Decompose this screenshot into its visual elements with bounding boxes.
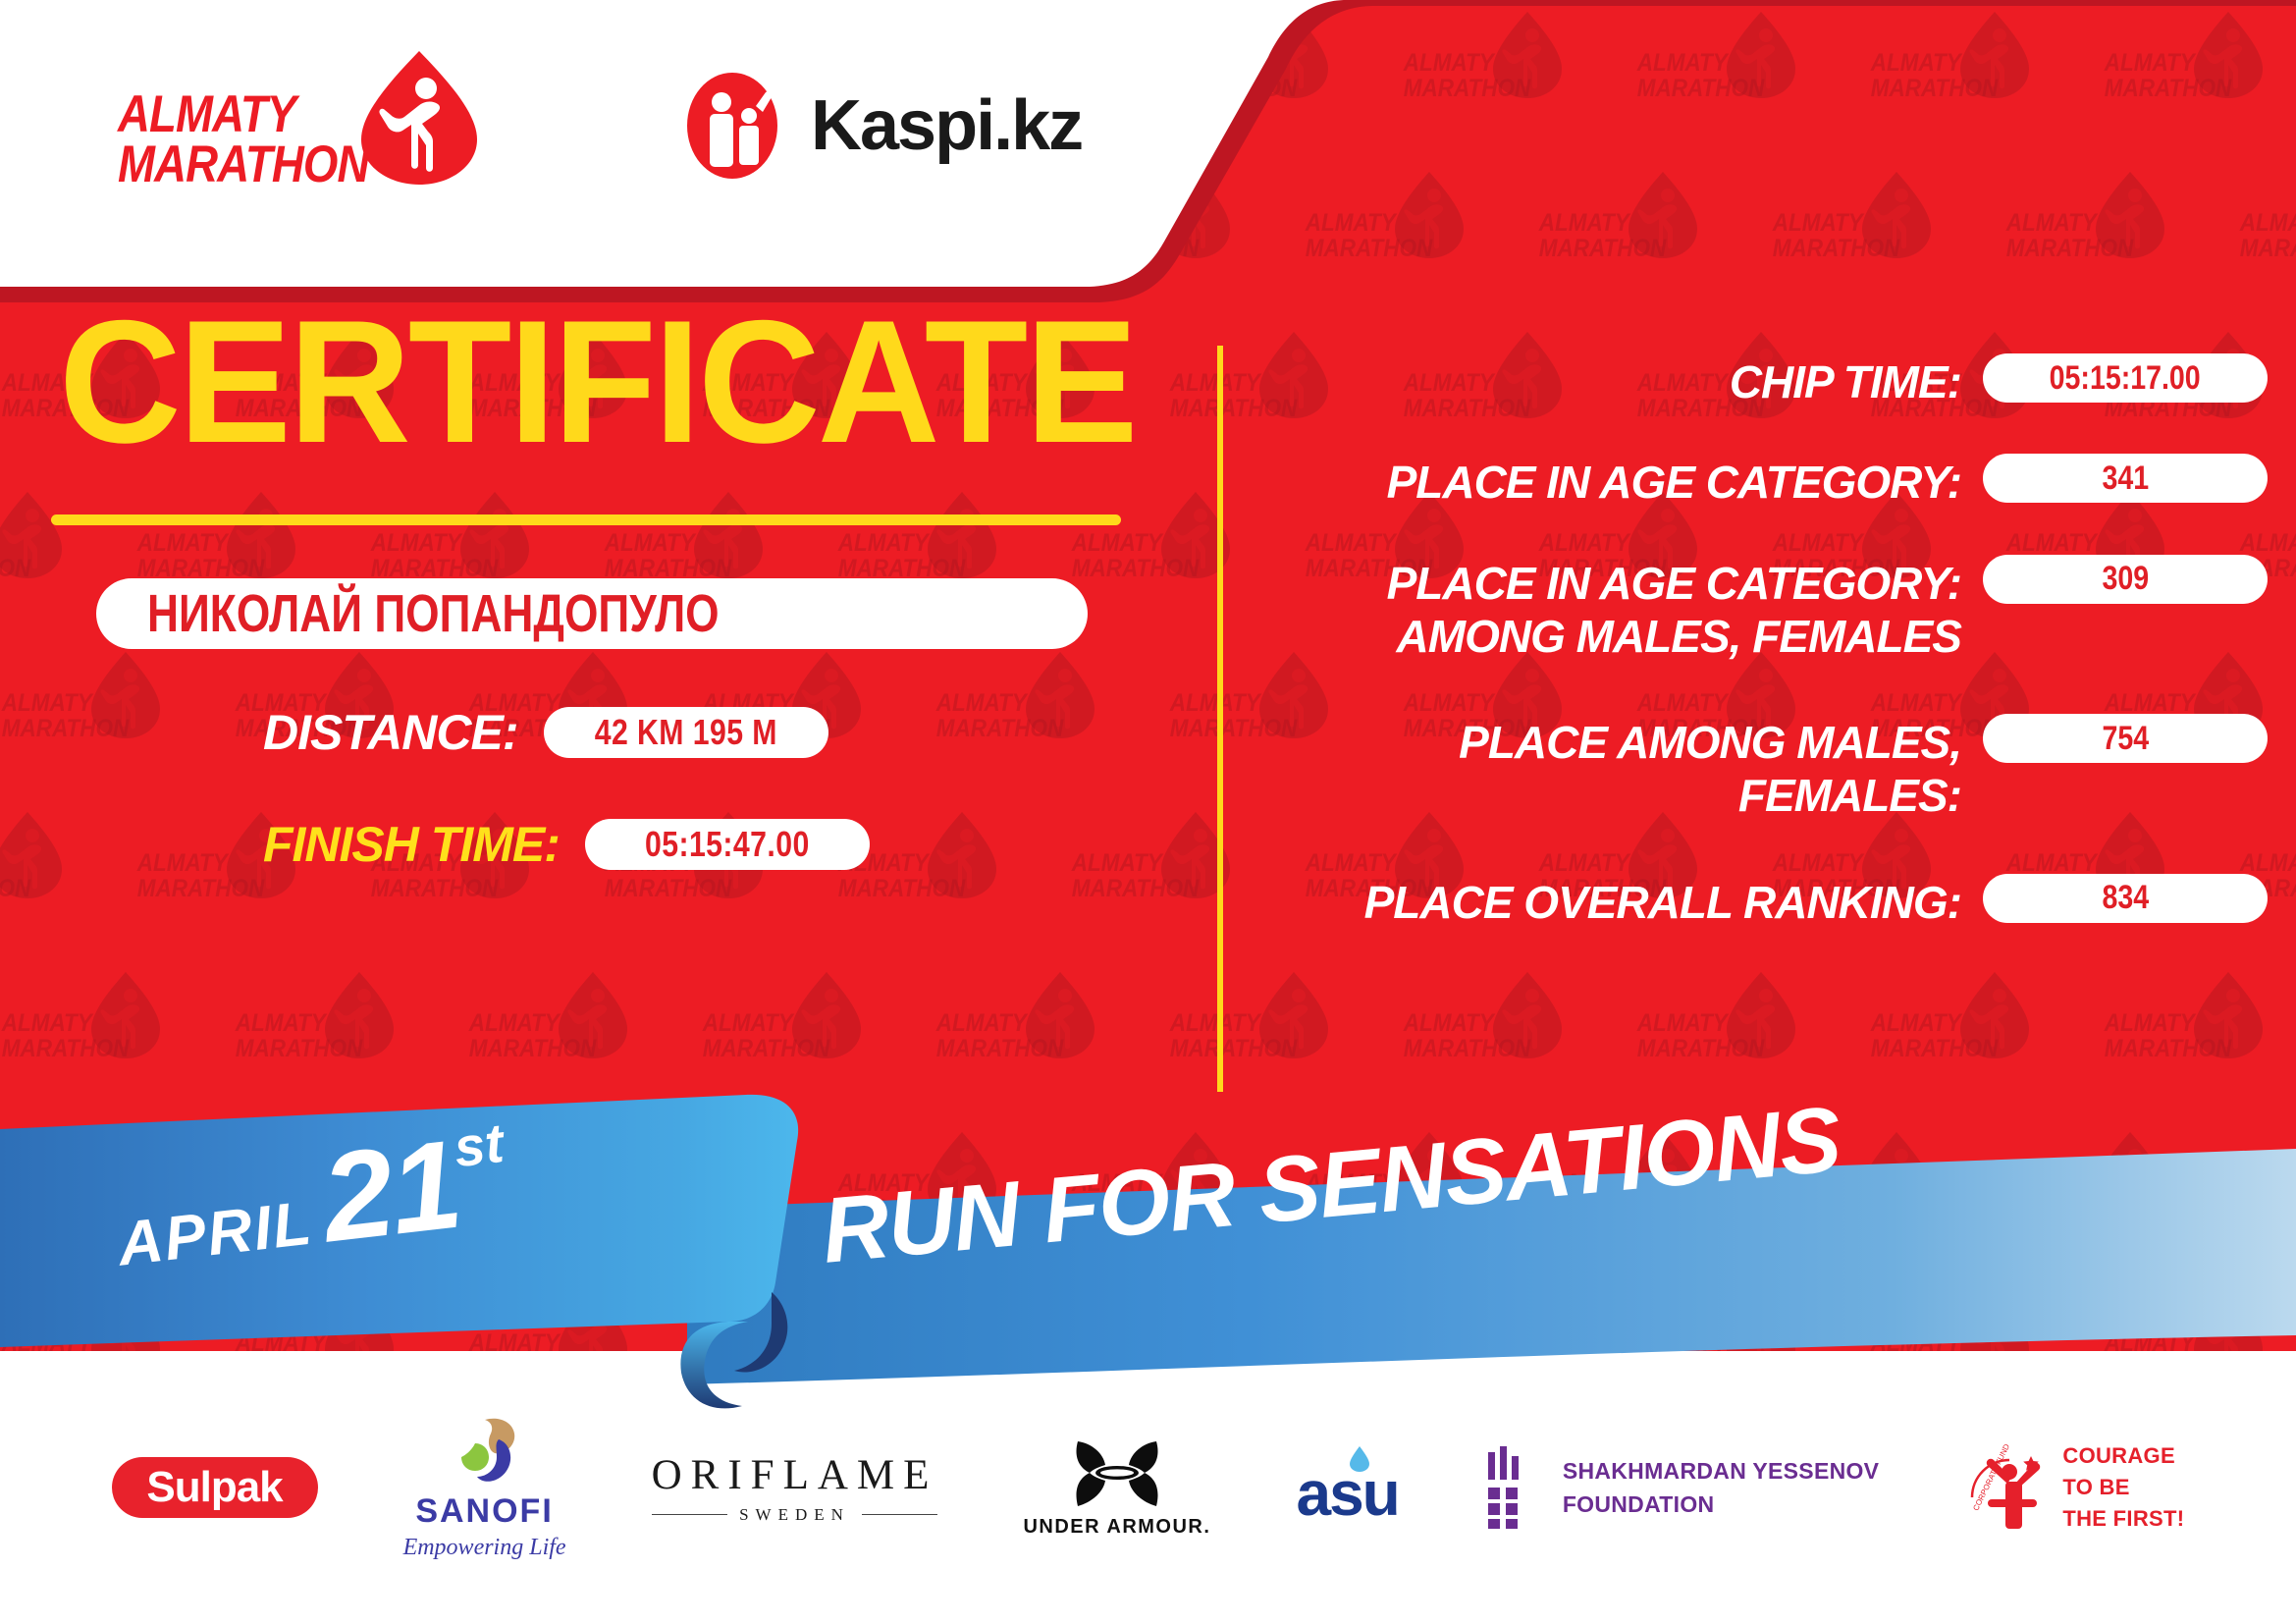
yessenov-wordmark: SHAKHMARDAN YESSENOV FOUNDATION (1563, 1454, 1880, 1522)
sanofi-tagline: Empowering Life (403, 1535, 566, 1561)
svg-text:MARATHON: MARATHON (703, 1035, 830, 1062)
runner-name-value: НИКОЛАЙ ПОПАНДОПУЛО (147, 583, 720, 644)
svg-text:MARATHON: MARATHON (605, 875, 732, 902)
rule-left (652, 1514, 727, 1515)
courage-line-1: COURAGE (2062, 1440, 2184, 1472)
watermark-tile: ALMATYMARATHON (0, 960, 172, 1108)
watermark-tile: ALMATYMARATHON (934, 960, 1106, 1108)
oriflame-tagline: SWEDEN (739, 1505, 850, 1525)
place-age-category-label: PLACE IN AGE CATEGORY: (1276, 454, 1961, 509)
kaspi-mark-icon (677, 71, 787, 181)
place-age-category-gender-value: 309 (2102, 560, 2149, 598)
label-line-1: PLACE IN AGE CATEGORY: (1276, 557, 1961, 610)
asu-wordmark: asu (1296, 1457, 1398, 1530)
svg-text:MARATHON: MARATHON (137, 875, 265, 902)
svg-text:MARATHON: MARATHON (1170, 1035, 1298, 1062)
place-age-category-gender-row: PLACE IN AGE CATEGORY: AMONG MALES, FEMA… (1276, 555, 2268, 664)
yessenov-mark-icon (1484, 1446, 1541, 1529)
chip-time-value: 05:15:17.00 (2050, 359, 2201, 398)
label-line-2: AMONG MALES, FEMALES (1276, 610, 1961, 663)
place-among-gender-row: PLACE AMONG MALES, FEMALES: 754 (1276, 714, 2268, 823)
finish-time-value: 05:15:47.00 (645, 824, 810, 865)
chip-time-pill: 05:15:17.00 (1983, 353, 2268, 403)
distance-row: DISTANCE: 42 KM 195 M (0, 704, 1207, 761)
svg-text:MARATHON: MARATHON (936, 1035, 1064, 1062)
runner-name-field: НИКОЛАЙ ПОПАНДОПУЛО (96, 578, 1088, 649)
place-age-category-row: PLACE IN AGE CATEGORY: 341 (1276, 454, 2268, 509)
event-month: APRIL (114, 1188, 316, 1280)
place-overall-value: 834 (2102, 879, 2149, 917)
svg-text:MARATHON: MARATHON (371, 875, 499, 902)
watermark-tile: ALMATYMARATHON (467, 960, 639, 1108)
under-armour-wordmark: UNDER ARMOUR. (1023, 1516, 1210, 1539)
chip-time-label: CHIP TIME: (1276, 353, 1961, 408)
title-divider (51, 514, 1121, 525)
watermark-tile: ALMATYMARATHON (701, 960, 873, 1108)
sponsor-yessenov-foundation: SHAKHMARDAN YESSENOV FOUNDATION (1484, 1446, 1880, 1529)
svg-text:MARATHON: MARATHON (1072, 875, 1200, 902)
label-line-1: PLACE AMONG MALES, (1276, 716, 1961, 769)
courage-wordmark: COURAGE TO BE THE FIRST! (2062, 1440, 2184, 1535)
place-overall-row: PLACE OVERALL RANKING: 834 (1276, 874, 2268, 929)
results-column: CHIP TIME: 05:15:17.00 PLACE IN AGE CATE… (1276, 353, 2268, 974)
sanofi-wordmark: SANOFI (415, 1492, 553, 1531)
sponsor-logos: Sulpak SANOFI Empowering Life ORIFLAME S… (0, 1351, 2296, 1624)
distance-pill: 42 KM 195 M (544, 707, 828, 758)
place-among-gender-pill: 754 (1983, 714, 2268, 763)
watermark-tile: ALMATYMARATHON (1869, 960, 2041, 1108)
svg-text:MARATHON: MARATHON (0, 875, 31, 902)
place-age-category-gender-label: PLACE IN AGE CATEGORY: AMONG MALES, FEMA… (1276, 555, 1961, 664)
svg-text:MARATHON: MARATHON (1637, 1035, 1765, 1062)
yessenov-tagline: FOUNDATION (1563, 1488, 1880, 1522)
event-day: 21 (315, 1112, 466, 1272)
svg-text:ALMATY: ALMATY (2104, 1009, 2197, 1037)
place-overall-label: PLACE OVERALL RANKING: (1276, 874, 1961, 929)
svg-text:ALMATY: ALMATY (1636, 1009, 1730, 1037)
svg-text:ALMATY: ALMATY (1403, 1009, 1496, 1037)
watermark-tile: ALMATYMARATHON (2103, 960, 2274, 1108)
svg-text:MARATHON: MARATHON (2, 1035, 130, 1062)
sponsor-oriflame: ORIFLAME SWEDEN (652, 1451, 938, 1525)
svg-text:ALMATY: ALMATY (1169, 1009, 1262, 1037)
chip-time-row: CHIP TIME: 05:15:17.00 (1276, 353, 2268, 408)
almaty-marathon-wordmark: ALMATY MARATHON (118, 90, 369, 190)
under-armour-mark-icon (1064, 1437, 1170, 1510)
place-among-gender-value: 754 (2102, 720, 2149, 758)
place-among-gender-label: PLACE AMONG MALES, FEMALES: (1276, 714, 1961, 823)
place-age-category-value: 341 (2102, 460, 2149, 498)
event-day-suffix: st (451, 1110, 507, 1179)
courage-fund-mark-icon: CORPORATE FUND (1964, 1440, 2051, 1535)
place-overall-pill: 834 (1983, 874, 2268, 923)
sponsor-sulpak: Sulpak (112, 1457, 318, 1518)
svg-text:ALMATY: ALMATY (235, 1009, 328, 1037)
watermark-tile: ALMATYMARATHON (1402, 960, 1574, 1108)
sponsor-asu: asu (1296, 1445, 1398, 1530)
svg-text:ALMATY: ALMATY (1, 1009, 94, 1037)
column-divider (1217, 346, 1223, 1092)
sponsor-courage-fund: CORPORATE FUND COURAGE TO BE THE FIRST! (1964, 1440, 2184, 1535)
distance-value: 42 KM 195 M (594, 712, 776, 753)
place-age-category-gender-pill: 309 (1983, 555, 2268, 604)
watermark-tile: ALMATYMARATHON (1168, 960, 1340, 1108)
distance-label: DISTANCE: (263, 704, 518, 761)
logo-line-1: ALMATY (118, 90, 369, 140)
runner-drop-icon (355, 49, 483, 187)
kaspi-logo: Kaspi.kz (677, 71, 1082, 181)
kaspi-wordmark: Kaspi.kz (811, 85, 1082, 166)
yessenov-name-line: SHAKHMARDAN YESSENOV (1563, 1454, 1880, 1489)
logo-line-2: MARATHON (118, 140, 369, 190)
svg-text:MARATHON: MARATHON (1871, 1035, 1999, 1062)
place-age-category-pill: 341 (1983, 454, 2268, 503)
oriflame-wordmark: ORIFLAME (652, 1451, 938, 1499)
finish-time-label: FINISH TIME: (263, 816, 560, 873)
sponsor-sanofi: SANOFI Empowering Life (403, 1414, 566, 1561)
sanofi-mark-icon (448, 1414, 522, 1490)
svg-text:MARATHON: MARATHON (236, 1035, 363, 1062)
svg-text:MARATHON: MARATHON (2105, 1035, 2232, 1062)
svg-text:MARATHON: MARATHON (1404, 1035, 1531, 1062)
svg-text:MARATHON: MARATHON (838, 875, 966, 902)
courage-line-2: TO BE (2062, 1472, 2184, 1503)
sponsor-under-armour: UNDER ARMOUR. (1023, 1437, 1210, 1539)
label-line-2: FEMALES: (1276, 769, 1961, 822)
svg-text:ALMATY: ALMATY (1870, 1009, 1963, 1037)
svg-text:ALMATY: ALMATY (935, 1009, 1029, 1037)
watermark-tile: ALMATYMARATHON (1635, 960, 1807, 1108)
oriflame-subline: SWEDEN (652, 1505, 938, 1525)
page-title: CERTIFICATE (59, 295, 1173, 469)
watermark-tile: ALMATYMARATHON (234, 960, 405, 1108)
certificate-page: ALMATYMARATHONALMATYMARATHONALMATYMARATH… (0, 0, 2296, 1624)
svg-text:ALMATY: ALMATY (468, 1009, 561, 1037)
almaty-marathon-logo: ALMATY MARATHON (118, 59, 432, 216)
svg-text:ALMATY: ALMATY (702, 1009, 795, 1037)
finish-time-pill: 05:15:47.00 (585, 819, 870, 870)
courage-line-3: THE FIRST! (2062, 1503, 2184, 1535)
finish-time-row: FINISH TIME: 05:15:47.00 (0, 816, 1207, 873)
svg-text:MARATHON: MARATHON (469, 1035, 597, 1062)
rule-right (862, 1514, 937, 1515)
sulpak-wordmark: Sulpak (146, 1463, 282, 1512)
header-panel: ALMATY MARATHON Kaspi.kz (0, 0, 2296, 304)
left-column: CERTIFICATE НИКОЛАЙ ПОПАНДОПУЛО DISTANCE… (0, 295, 1207, 873)
